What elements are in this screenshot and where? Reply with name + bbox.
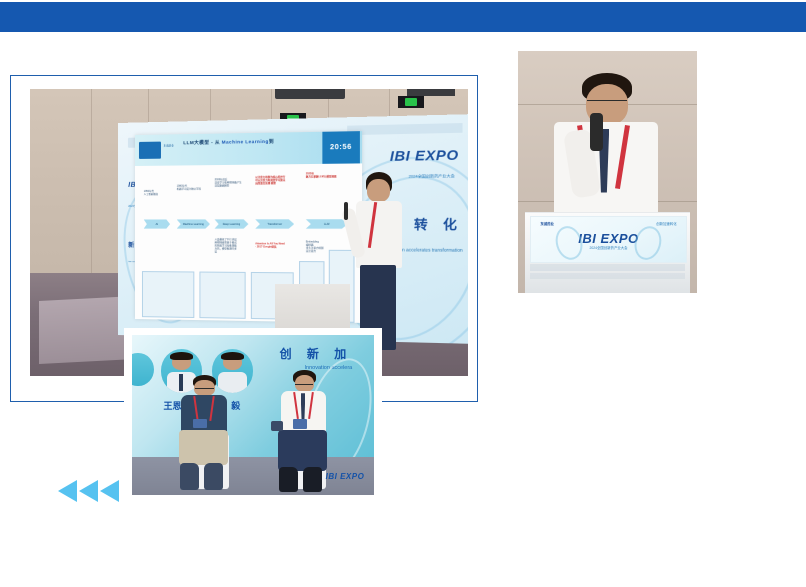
slide-canvas: IBI EXPO 2024全国创新药产业大会 新 加 速 转 化 tion ac… <box>0 0 806 587</box>
ceiling-beam <box>275 89 345 99</box>
podium: 东诚药业 创新加速转化 IBI EXPO 2024全国创新药产业大会 <box>525 212 690 293</box>
podium-branding-panel: 东诚药业 创新加速转化 IBI EXPO 2024全国创新药产业大会 <box>530 216 687 263</box>
panelist-left-figure <box>178 375 231 490</box>
panel-name-tail: 毅 <box>231 399 240 412</box>
microphone-icon <box>344 202 348 220</box>
speaker-figure <box>547 73 665 233</box>
sponsor-logo-strip <box>346 124 462 136</box>
decorative-swoosh <box>552 223 586 262</box>
slide-diagram <box>199 271 246 318</box>
slide-title-plain: LLM大模型 - 从 <box>183 139 221 145</box>
slide-column-note: 2006年前后 深度学习和神经网络产生 深层数据模型 <box>215 178 249 187</box>
slide-diagram <box>142 271 195 318</box>
glasses-icon <box>295 384 313 389</box>
podium-right-label: 创新加速转化 <box>656 221 676 226</box>
exit-sign-icon <box>398 96 424 107</box>
slide-column-extra: 人类模拟了平行多层 神经网络等基于模式 的智能学习和推理能 力的，模型推理的多 … <box>215 238 244 253</box>
slide-column-note: 1950年代 人工智能概念 <box>144 190 173 196</box>
slide-title-highlight: Machine Learning <box>222 138 269 144</box>
top-banner <box>0 2 806 32</box>
countdown-timer: 20:56 <box>322 131 360 164</box>
panelist-right-figure <box>277 370 330 492</box>
slide-company-logo <box>139 142 161 159</box>
backdrop-brand: IBI EXPO <box>389 147 458 164</box>
slide-column-chip: Deep Learning <box>215 219 249 228</box>
slide-title-tail: 到 <box>269 138 274 143</box>
back-arrow-icon[interactable] <box>100 480 119 502</box>
glasses-icon <box>587 100 627 107</box>
panel-brand: IBI EXPO <box>326 472 365 481</box>
back-arrow-icon[interactable] <box>58 480 77 502</box>
slide-column-chip: Transformer <box>255 219 294 228</box>
slide-column-chip: AI <box>144 219 170 228</box>
back-arrow-icon[interactable] <box>79 480 98 502</box>
microphone-icon <box>271 421 283 431</box>
back-arrows-group[interactable] <box>58 479 124 503</box>
name-badge <box>193 419 207 428</box>
podium-fineprint <box>530 264 685 271</box>
microphone-icon <box>590 113 603 151</box>
wall-seam <box>91 89 92 273</box>
slide-column-note: 以注意力机制为核心的并行 可以注意力和深度学习算法 自然语言处理 模型 <box>255 176 296 186</box>
decorative-swoosh <box>631 223 665 262</box>
podium-brand-sub: 2024全国创新药产业大会 <box>589 245 627 250</box>
panel-discussion-photo[interactable]: 创 新 加 Innovation accelera 王恩东 毅 <box>132 335 374 495</box>
speaker-portrait-photo[interactable]: 东诚药业 创新加速转化 IBI EXPO 2024全国创新药产业大会 <box>518 51 697 293</box>
slide-title: LLM大模型 - 从 Machine Learning到 <box>183 138 274 146</box>
panel-photo-frame[interactable]: 创 新 加 Innovation accelera 王恩东 毅 <box>124 328 382 502</box>
slide-column-citation: Attention Is All You Need - 2017 Google团… <box>255 242 294 248</box>
glasses-icon <box>195 388 214 392</box>
ceiling-beam <box>407 89 455 96</box>
slide-column-chip: Machine Learning <box>177 219 210 228</box>
presenter-figure <box>341 172 415 350</box>
slide-column-note: 1980年代 机器学习成为独立学科 <box>177 184 208 190</box>
podium-brand: IBI EXPO <box>578 231 638 246</box>
name-badge <box>293 419 307 429</box>
podium-left-label: 东诚药业 <box>540 221 554 226</box>
slide-company-name: 东诚药业 <box>164 143 174 147</box>
podium-fineprint <box>530 273 685 279</box>
